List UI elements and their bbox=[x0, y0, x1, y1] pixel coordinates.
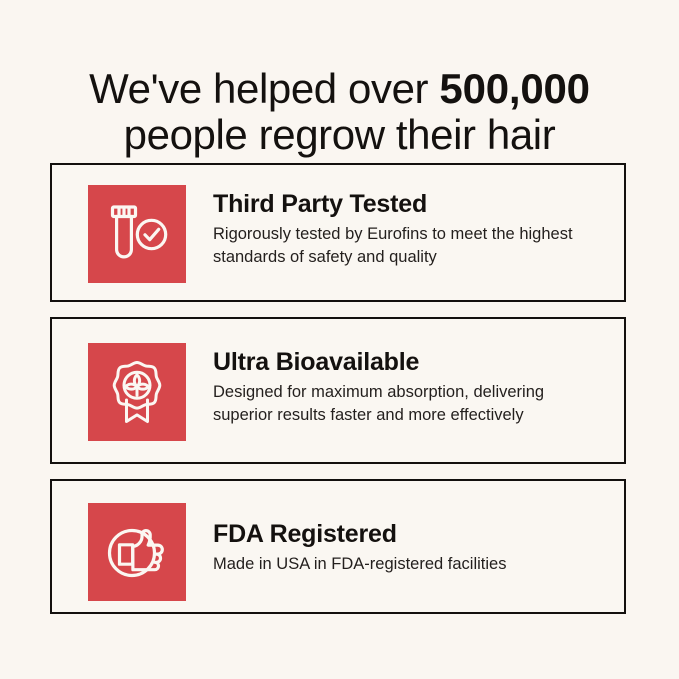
icon-tile bbox=[88, 343, 186, 441]
card-description: Made in USA in FDA-registered facilities bbox=[213, 553, 608, 576]
feature-card-ultra-bioavailable: Ultra Bioavailable Designed for maximum … bbox=[50, 317, 626, 464]
headline-prefix: We've helped over bbox=[89, 65, 439, 112]
award-badge-leaf-icon bbox=[103, 358, 171, 426]
feature-card-fda-registered: FDA Registered Made in USA in FDA-regist… bbox=[50, 479, 626, 614]
test-tube-check-icon bbox=[103, 200, 171, 268]
headline-line-2: people regrow their hair bbox=[28, 112, 651, 158]
card-description: Designed for maximum absorption, deliver… bbox=[213, 381, 593, 426]
card-title: FDA Registered bbox=[213, 519, 608, 549]
card-text-block: FDA Registered Made in USA in FDA-regist… bbox=[186, 501, 608, 576]
feature-card-third-party-tested: Third Party Tested Rigorously tested by … bbox=[50, 163, 626, 302]
card-description: Rigorously tested by Eurofins to meet th… bbox=[213, 223, 593, 268]
promo-panel: We've helped over 500,000 people regrow … bbox=[0, 0, 679, 679]
card-title: Ultra Bioavailable bbox=[213, 347, 608, 377]
page-title: We've helped over 500,000 people regrow … bbox=[0, 66, 679, 158]
card-text-block: Ultra Bioavailable Designed for maximum … bbox=[186, 339, 608, 426]
card-text-block: Third Party Tested Rigorously tested by … bbox=[186, 185, 608, 268]
card-title: Third Party Tested bbox=[213, 189, 608, 219]
thumbs-up-circle-icon bbox=[103, 518, 171, 586]
headline-emphasis-number: 500,000 bbox=[439, 65, 589, 112]
headline-line-1: We've helped over 500,000 bbox=[28, 66, 651, 112]
icon-tile bbox=[88, 503, 186, 601]
feature-card-list: Third Party Tested Rigorously tested by … bbox=[50, 163, 626, 614]
icon-tile bbox=[88, 185, 186, 283]
